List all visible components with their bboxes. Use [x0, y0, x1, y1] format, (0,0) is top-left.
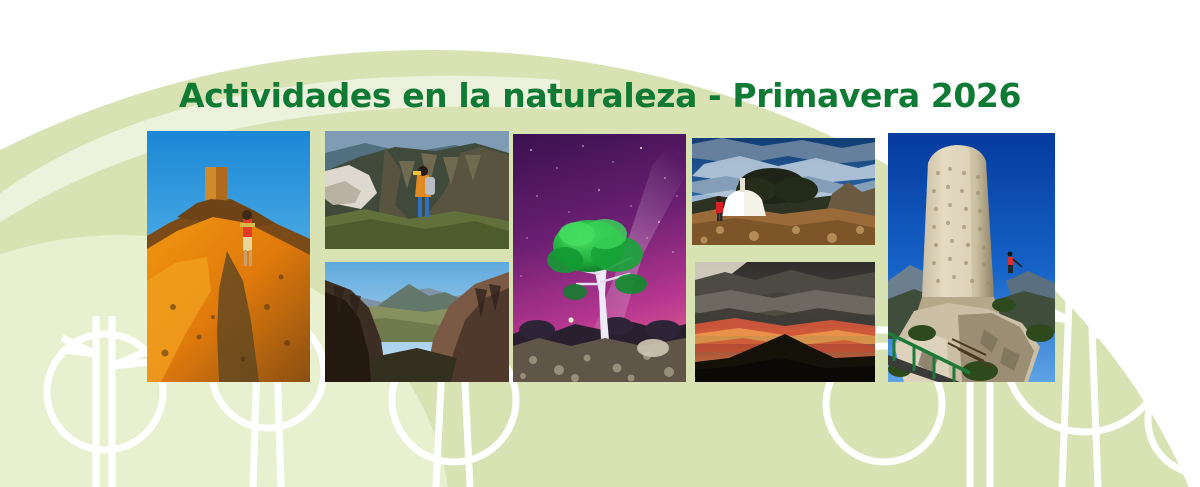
photo-night-sky-tree: [513, 134, 686, 382]
photo-snow-well-sunset: [692, 138, 875, 245]
page-title: Actividades en la naturaleza - Primavera…: [0, 78, 1200, 114]
photo-stone-watchtower: [888, 133, 1055, 382]
photo-hiker-tower-hillside: [147, 131, 310, 382]
photo-canyon-valley: [325, 262, 509, 382]
nature-activities-banner: Actividades en la naturaleza - Primavera…: [0, 0, 1200, 487]
photo-collage: [0, 0, 1200, 487]
photo-hiker-gorge: [325, 131, 509, 249]
photo-storm-mountain-sunset: [695, 262, 875, 382]
